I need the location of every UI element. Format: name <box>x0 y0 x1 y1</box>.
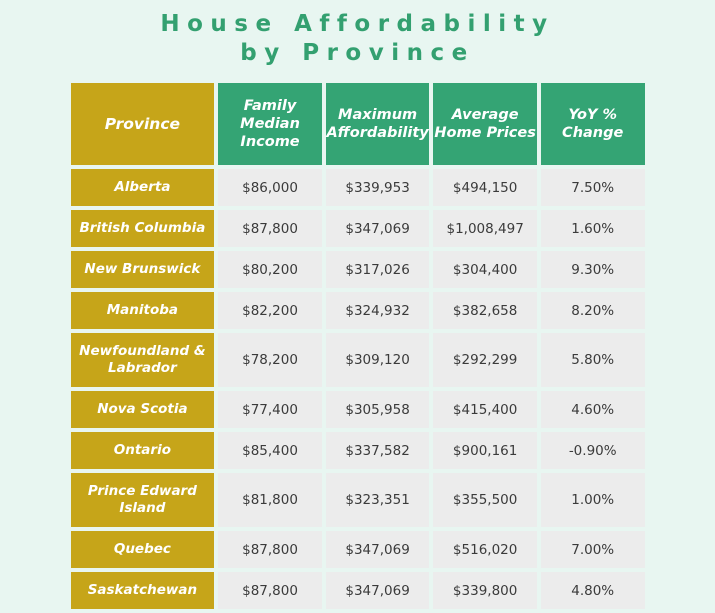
cell-yoy-percent-change: 5.80% <box>541 333 645 387</box>
column-header-line: Income <box>218 133 322 151</box>
cell-family-median-income: $78,200 <box>218 333 322 387</box>
cell-maximum-affordability: $347,069 <box>326 531 430 568</box>
cell-family-median-income: $77,400 <box>218 391 322 428</box>
cell-maximum-affordability: $317,026 <box>326 251 430 288</box>
page-title-line-1: House Affordability <box>0 10 715 39</box>
cell-maximum-affordability: $347,069 <box>326 210 430 247</box>
cell-yoy-percent-change: 1.00% <box>541 473 645 527</box>
column-header-line: Median <box>218 115 322 133</box>
cell-maximum-affordability: $323,351 <box>326 473 430 527</box>
table-row: British Columbia$87,800$347,069$1,008,49… <box>71 210 645 247</box>
province-label-line: Quebec <box>71 541 215 558</box>
table-row: Alberta$86,000$339,953$494,1507.50% <box>71 169 645 206</box>
province-label-line: Alberta <box>71 179 215 196</box>
column-header-yoy-percent-change: YoY %Change <box>541 83 645 165</box>
column-header-line: Affordability <box>326 124 430 142</box>
column-header-line: Average <box>433 106 537 124</box>
province-label-line: Saskatchewan <box>71 582 215 599</box>
column-header-line: Change <box>541 124 645 142</box>
cell-province: Saskatchewan <box>71 572 215 609</box>
column-header-average-home-prices: AverageHome Prices <box>433 83 537 165</box>
page-title: House Affordability by Province <box>0 0 715 68</box>
column-header-line: Family <box>218 97 322 115</box>
table-header: Province FamilyMedianIncome MaximumAffor… <box>71 83 645 165</box>
province-label-line: Nova Scotia <box>71 401 215 418</box>
cell-maximum-affordability: $309,120 <box>326 333 430 387</box>
cell-province: Manitoba <box>71 292 215 329</box>
cell-yoy-percent-change: 1.60% <box>541 210 645 247</box>
cell-average-home-prices: $415,400 <box>433 391 537 428</box>
cell-family-median-income: $87,800 <box>218 572 322 609</box>
column-header-line: Maximum <box>326 106 430 124</box>
cell-province: Prince EdwardIsland <box>71 473 215 527</box>
cell-average-home-prices: $339,800 <box>433 572 537 609</box>
cell-yoy-percent-change: 4.60% <box>541 391 645 428</box>
cell-average-home-prices: $292,299 <box>433 333 537 387</box>
cell-yoy-percent-change: 9.30% <box>541 251 645 288</box>
province-label-line: Prince Edward <box>71 483 215 500</box>
column-header-line: Home Prices <box>433 124 537 142</box>
cell-maximum-affordability: $347,069 <box>326 572 430 609</box>
table-row: Nova Scotia$77,400$305,958$415,4004.60% <box>71 391 645 428</box>
cell-yoy-percent-change: 7.00% <box>541 531 645 568</box>
province-label-line: New Brunswick <box>71 261 215 278</box>
table-header-row: Province FamilyMedianIncome MaximumAffor… <box>71 83 645 165</box>
cell-maximum-affordability: $305,958 <box>326 391 430 428</box>
cell-province: Nova Scotia <box>71 391 215 428</box>
cell-average-home-prices: $516,020 <box>433 531 537 568</box>
page-title-line-2: by Province <box>0 39 715 68</box>
cell-family-median-income: $80,200 <box>218 251 322 288</box>
cell-yoy-percent-change: 8.20% <box>541 292 645 329</box>
cell-family-median-income: $86,000 <box>218 169 322 206</box>
column-header-province: Province <box>71 83 215 165</box>
cell-yoy-percent-change: -0.90% <box>541 432 645 469</box>
cell-average-home-prices: $494,150 <box>433 169 537 206</box>
cell-province: British Columbia <box>71 210 215 247</box>
affordability-table-page: House Affordability by Province Province… <box>0 0 715 595</box>
cell-maximum-affordability: $337,582 <box>326 432 430 469</box>
house-affordability-table: Province FamilyMedianIncome MaximumAffor… <box>67 79 649 613</box>
cell-province: Ontario <box>71 432 215 469</box>
cell-province: New Brunswick <box>71 251 215 288</box>
column-header-family-median-income: FamilyMedianIncome <box>218 83 322 165</box>
cell-family-median-income: $82,200 <box>218 292 322 329</box>
table-row: New Brunswick$80,200$317,026$304,4009.30… <box>71 251 645 288</box>
column-header-maximum-affordability: MaximumAffordability <box>326 83 430 165</box>
cell-average-home-prices: $900,161 <box>433 432 537 469</box>
table-row: Ontario$85,400$337,582$900,161-0.90% <box>71 432 645 469</box>
cell-province: Quebec <box>71 531 215 568</box>
column-header-line: Province <box>71 115 215 133</box>
column-header-line: YoY % <box>541 106 645 124</box>
cell-family-median-income: $87,800 <box>218 210 322 247</box>
cell-family-median-income: $87,800 <box>218 531 322 568</box>
province-label-line: Ontario <box>71 442 215 459</box>
cell-maximum-affordability: $339,953 <box>326 169 430 206</box>
province-label-line: Island <box>71 500 215 517</box>
province-label-line: Manitoba <box>71 302 215 319</box>
cell-maximum-affordability: $324,932 <box>326 292 430 329</box>
table-row: Manitoba$82,200$324,932$382,6588.20% <box>71 292 645 329</box>
cell-average-home-prices: $304,400 <box>433 251 537 288</box>
cell-yoy-percent-change: 4.80% <box>541 572 645 609</box>
table-row: Prince EdwardIsland$81,800$323,351$355,5… <box>71 473 645 527</box>
cell-family-median-income: $85,400 <box>218 432 322 469</box>
cell-average-home-prices: $355,500 <box>433 473 537 527</box>
province-label-line: Labrador <box>71 360 215 377</box>
table-row: Newfoundland &Labrador$78,200$309,120$29… <box>71 333 645 387</box>
table-row: Quebec$87,800$347,069$516,0207.00% <box>71 531 645 568</box>
cell-average-home-prices: $1,008,497 <box>433 210 537 247</box>
province-label-line: British Columbia <box>71 220 215 237</box>
cell-province: Newfoundland &Labrador <box>71 333 215 387</box>
table-body: Alberta$86,000$339,953$494,1507.50%Briti… <box>71 169 645 609</box>
cell-yoy-percent-change: 7.50% <box>541 169 645 206</box>
province-label-line: Newfoundland & <box>71 343 215 360</box>
table-row: Saskatchewan$87,800$347,069$339,8004.80% <box>71 572 645 609</box>
cell-province: Alberta <box>71 169 215 206</box>
cell-family-median-income: $81,800 <box>218 473 322 527</box>
table-container: Province FamilyMedianIncome MaximumAffor… <box>71 79 645 613</box>
cell-average-home-prices: $382,658 <box>433 292 537 329</box>
